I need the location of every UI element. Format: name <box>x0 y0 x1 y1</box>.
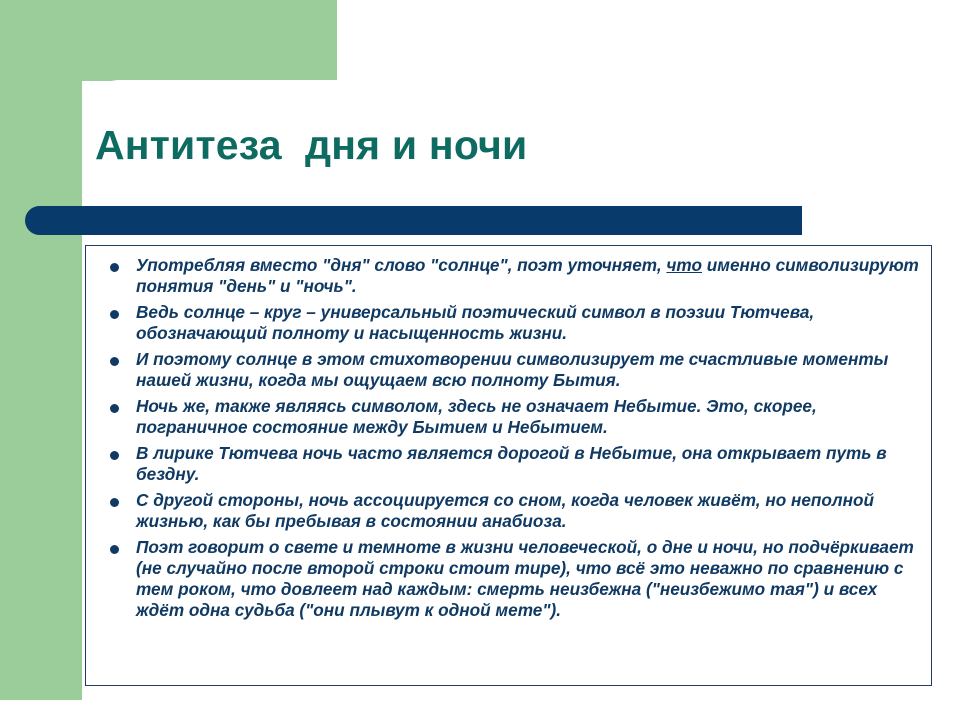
bullet-text: Поэт говорит о свете и темноте в жизни ч… <box>136 537 914 620</box>
bullet-text-part: Употребляя вместо "дня" слово "солнце", … <box>136 255 666 275</box>
bullet-text: Ночь же, также являясь символом, здесь н… <box>136 396 817 437</box>
slide-canvas: Антитеза дня и ночи Употребляя вместо "д… <box>0 0 960 720</box>
green-top-band <box>0 0 337 81</box>
bullet-text: С другой стороны, ночь ассоциируется со … <box>136 490 874 531</box>
list-item: Ведь солнце – круг – универсальный поэти… <box>100 302 919 344</box>
navy-accent-bar <box>25 206 802 235</box>
bullet-text-underlined: что <box>666 255 702 275</box>
list-item: И поэтому солнце в этом стихотворении си… <box>100 349 919 391</box>
list-item: С другой стороны, ночь ассоциируется со … <box>100 490 919 532</box>
list-item: Ночь же, также являясь символом, здесь н… <box>100 396 919 438</box>
bullet-text: В лирике Тютчева ночь часто является дор… <box>136 443 887 484</box>
bullet-text: Ведь солнце – круг – универсальный поэти… <box>136 302 814 343</box>
content-box: Употребляя вместо "дня" слово "солнце", … <box>85 245 932 686</box>
list-item: Употребляя вместо "дня" слово "солнце", … <box>100 255 919 297</box>
list-item: Поэт говорит о свете и темноте в жизни ч… <box>100 537 919 621</box>
bullet-text: И поэтому солнце в этом стихотворении си… <box>136 349 888 390</box>
page-title: Антитеза дня и ночи <box>95 123 915 168</box>
list-item: В лирике Тютчева ночь часто является дор… <box>100 443 919 485</box>
bullet-list: Употребляя вместо "дня" слово "солнце", … <box>86 246 931 621</box>
green-left-band <box>0 80 82 700</box>
